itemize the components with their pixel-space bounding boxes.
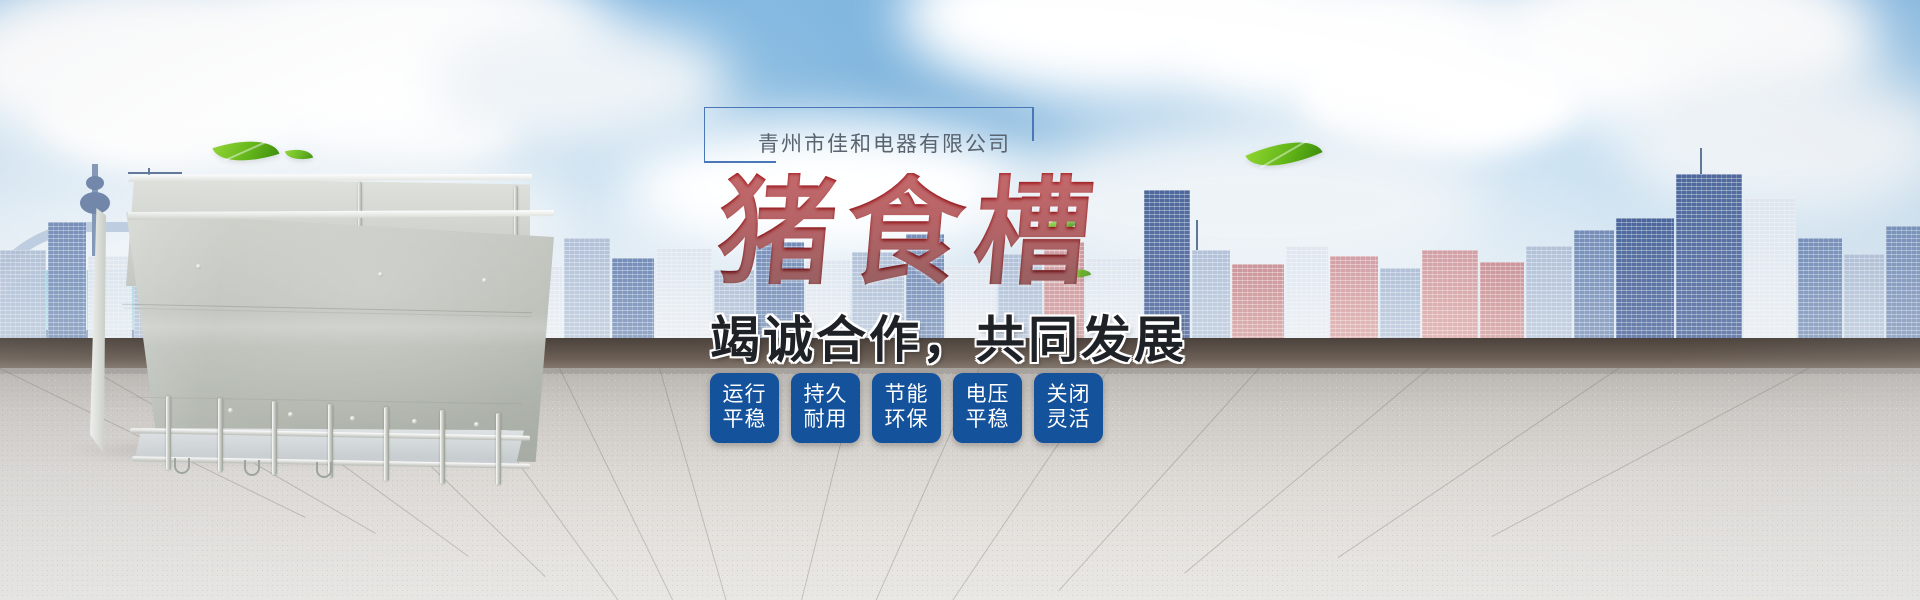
trough-divider-bar <box>166 396 171 470</box>
trough-wire-loop <box>316 462 332 478</box>
copy-block: 青州市佳和电器有限公司 猪食槽 竭诚合作，共同发展 运行 平稳 持久 耐用 节能… <box>690 95 1250 475</box>
trough-left-edge <box>90 208 106 454</box>
feature-badge-line1: 持久 <box>804 383 848 408</box>
headline-subtitle: 竭诚合作，共同发展 <box>710 300 1187 372</box>
trough-wire-loop <box>174 458 190 474</box>
company-name: 青州市佳和电器有限公司 <box>758 128 1011 158</box>
trough-divider-bar <box>496 413 501 485</box>
trough-divider-bar <box>272 401 277 475</box>
feature-badge-line1: 关闭 <box>1047 383 1091 408</box>
feature-badge: 持久 耐用 <box>791 373 860 443</box>
trough-divider-bar <box>384 407 389 481</box>
feature-badge-list: 运行 平稳 持久 耐用 节能 环保 电压 平稳 关闭 灵活 <box>710 373 1103 443</box>
trough-front-panel <box>94 212 554 462</box>
feature-badge: 节能 环保 <box>872 373 941 443</box>
company-name-frame-right <box>1032 107 1034 141</box>
headline-title: 猪食槽 <box>713 173 1107 291</box>
feature-badge: 电压 平稳 <box>953 373 1022 443</box>
trough-divider-bar <box>440 410 445 484</box>
feature-badge-line2: 平稳 <box>966 408 1010 433</box>
product-image-pig-feeding-trough <box>78 160 548 470</box>
antenna-mast <box>1700 148 1702 174</box>
promo-banner: 青州市佳和电器有限公司 猪食槽 竭诚合作，共同发展 运行 平稳 持久 耐用 节能… <box>0 0 1920 600</box>
feature-badge-line2: 环保 <box>885 408 929 433</box>
feature-badge-line1: 运行 <box>723 383 767 408</box>
feature-badge: 关闭 灵活 <box>1034 373 1103 443</box>
trough-top-rim <box>124 174 532 182</box>
feature-badge-line1: 电压 <box>966 383 1010 408</box>
trough-divider-bar <box>218 398 223 472</box>
trough-wire-loop <box>244 460 260 476</box>
feature-badge-line2: 灵活 <box>1047 408 1091 433</box>
feature-badge-line1: 节能 <box>885 383 929 408</box>
feature-badge: 运行 平稳 <box>710 373 779 443</box>
feature-badge-line2: 平稳 <box>723 408 767 433</box>
feature-badge-line2: 耐用 <box>804 408 848 433</box>
